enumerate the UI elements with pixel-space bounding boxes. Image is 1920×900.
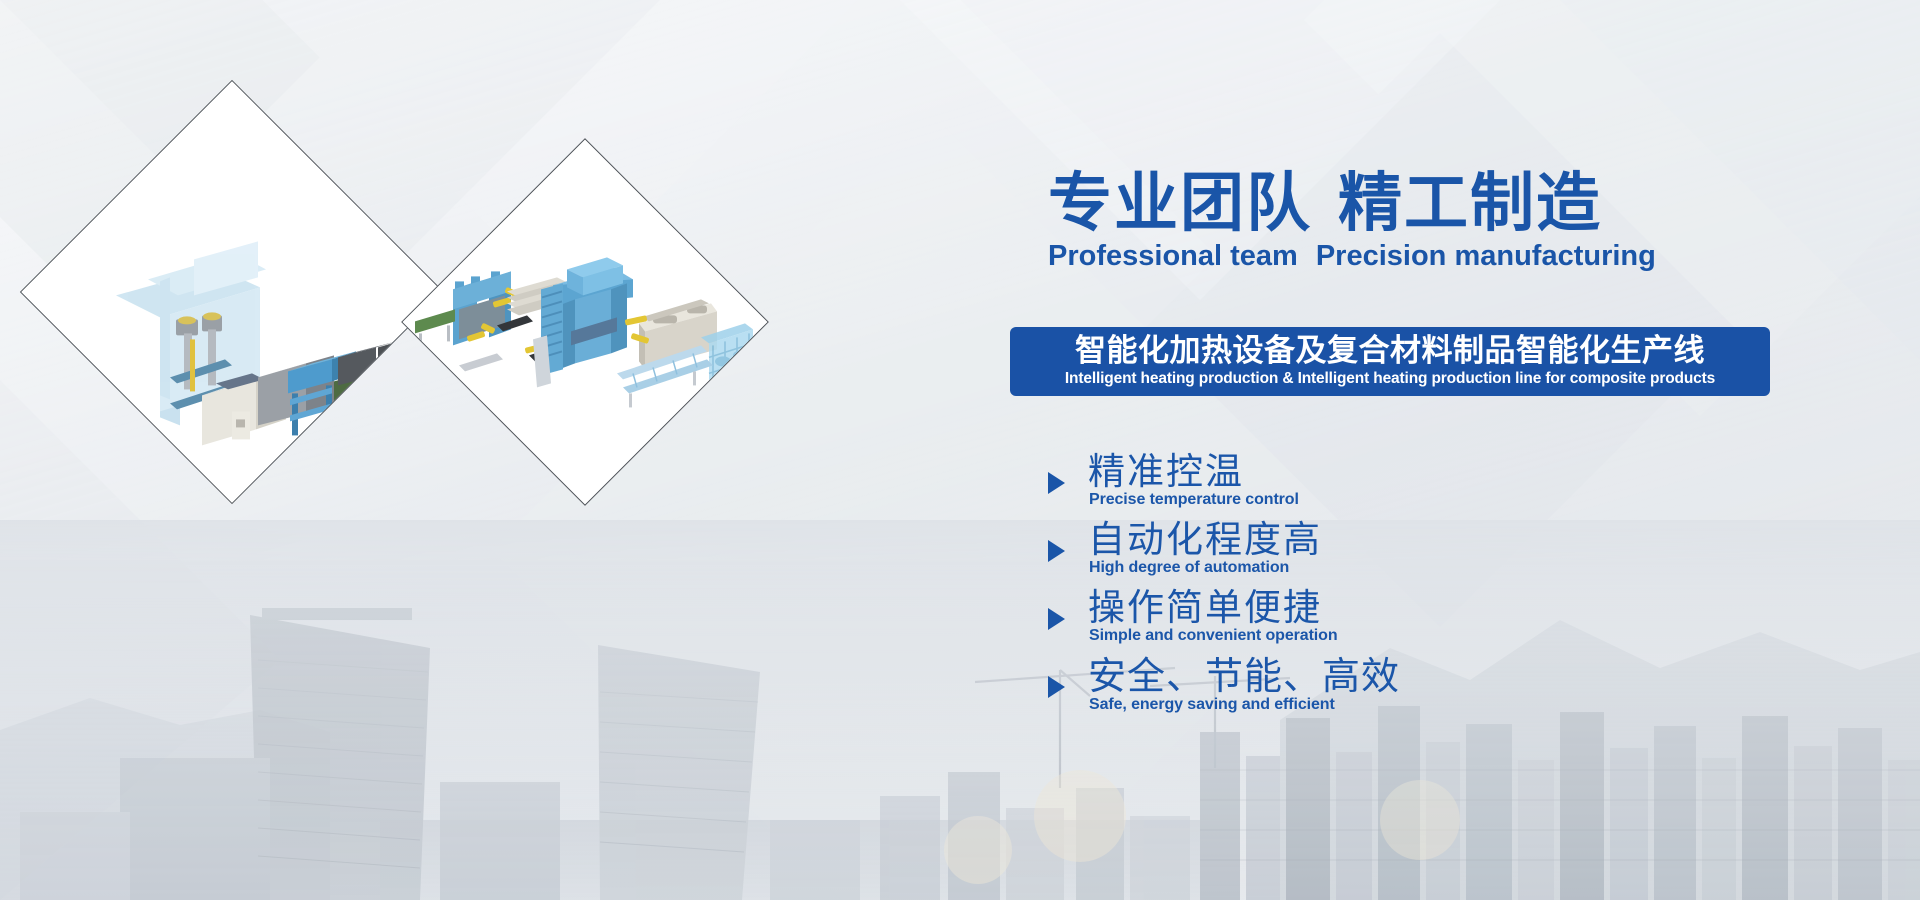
feature-text: 操作简单便捷 Simple and convenient operation xyxy=(1088,588,1338,645)
feature-label-english: Simple and convenient operation xyxy=(1089,627,1338,645)
triangle-right-icon xyxy=(1048,608,1065,630)
triangle-right-icon xyxy=(1048,472,1065,494)
text-content-column: 专业团队精工制造 Professional teamPrecision manu… xyxy=(1010,0,1920,900)
feature-item-precise-temperature-control: 精准控温 Precise temperature control xyxy=(1042,450,1602,518)
feature-text: 精准控温 Precise temperature control xyxy=(1088,452,1299,509)
headline-english: Professional teamPrecision manufacturing xyxy=(1048,242,1656,271)
promotional-banner: 专业团队精工制造 Professional teamPrecision manu… xyxy=(0,0,1920,900)
headline-en-part1: Professional team xyxy=(1048,240,1298,272)
feature-label-english: Safe, energy saving and efficient xyxy=(1089,696,1400,714)
feature-item-high-degree-of-automation: 自动化程度高 High degree of automation xyxy=(1042,518,1602,586)
product-title-chinese: 智能化加热设备及复合材料制品智能化生产线 xyxy=(1024,334,1756,369)
product-title-english: Intelligent heating production & Intelli… xyxy=(1024,370,1756,388)
feature-list: 精准控温 Precise temperature control 自动化程度高 … xyxy=(1042,450,1602,722)
product-title-banner: 智能化加热设备及复合材料制品智能化生产线 Intelligent heating… xyxy=(1010,327,1770,396)
feature-label-english: High degree of automation xyxy=(1089,559,1322,577)
feature-label-english: Precise temperature control xyxy=(1089,491,1299,509)
headline-cn-part2: 精工制造 xyxy=(1338,167,1602,241)
feature-text: 安全、节能、高效 Safe, energy saving and efficie… xyxy=(1088,656,1400,714)
headline-en-part2: Precision manufacturing xyxy=(1316,240,1656,272)
feature-label-chinese: 精准控温 xyxy=(1088,452,1299,492)
feature-label-chinese: 安全、节能、高效 xyxy=(1088,656,1400,697)
headline-chinese: 专业团队精工制造 xyxy=(1048,172,1656,236)
headline-block: 专业团队精工制造 Professional teamPrecision manu… xyxy=(1048,172,1656,271)
feature-item-simple-convenient-operation: 操作简单便捷 Simple and convenient operation xyxy=(1042,586,1602,654)
feature-item-safe-energy-saving-efficient: 安全、节能、高效 Safe, energy saving and efficie… xyxy=(1042,654,1602,722)
feature-text: 自动化程度高 High degree of automation xyxy=(1088,520,1322,577)
triangle-right-icon xyxy=(1048,540,1065,562)
triangle-right-icon xyxy=(1048,676,1065,698)
headline-cn-part1: 专业团队 xyxy=(1048,167,1312,241)
feature-label-chinese: 自动化程度高 xyxy=(1088,520,1322,560)
feature-label-chinese: 操作简单便捷 xyxy=(1088,588,1338,628)
